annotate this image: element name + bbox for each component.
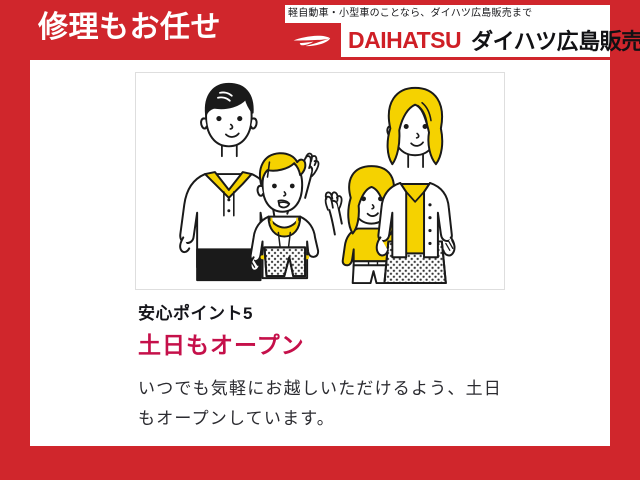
header-band: 修理もお任せ 軽自動車・小型車のことなら、ダイハツ広島販売まで DAIHATSU… — [0, 0, 640, 60]
brand-tagline: 軽自動車・小型車のことなら、ダイハツ広島販売まで — [288, 7, 532, 20]
brand-wordmark: DAIHATSU — [348, 27, 461, 54]
point-label: 安心ポイント5 — [138, 302, 558, 326]
poster-page: 修理もお任せ 軽自動車・小型車のことなら、ダイハツ広島販売まで DAIHATSU… — [0, 0, 640, 480]
body-text: いつでも気軽にお越しいただけるよう、土日もオープンしています。 — [138, 374, 504, 434]
content-card: 安心ポイント5 土日もオープン いつでも気軽にお越しいただけるよう、土日もオープ… — [30, 60, 610, 446]
headline: 土日もオープン — [138, 330, 558, 360]
brand-logo-block: 軽自動車・小型車のことなら、ダイハツ広島販売まで DAIHATSU ダイハツ広島… — [285, 5, 610, 57]
text-block: 安心ポイント5 土日もオープン いつでも気軽にお越しいただけるよう、土日もオープ… — [138, 302, 558, 434]
brand-logo-row: DAIHATSU ダイハツ広島販売 — [285, 23, 610, 57]
daihatsu-d-emblem-icon — [285, 23, 341, 57]
page-title: 修理もお任せ — [38, 11, 221, 45]
family-illustration — [135, 72, 505, 290]
brand-dealer-name: ダイハツ広島販売 — [471, 24, 640, 56]
